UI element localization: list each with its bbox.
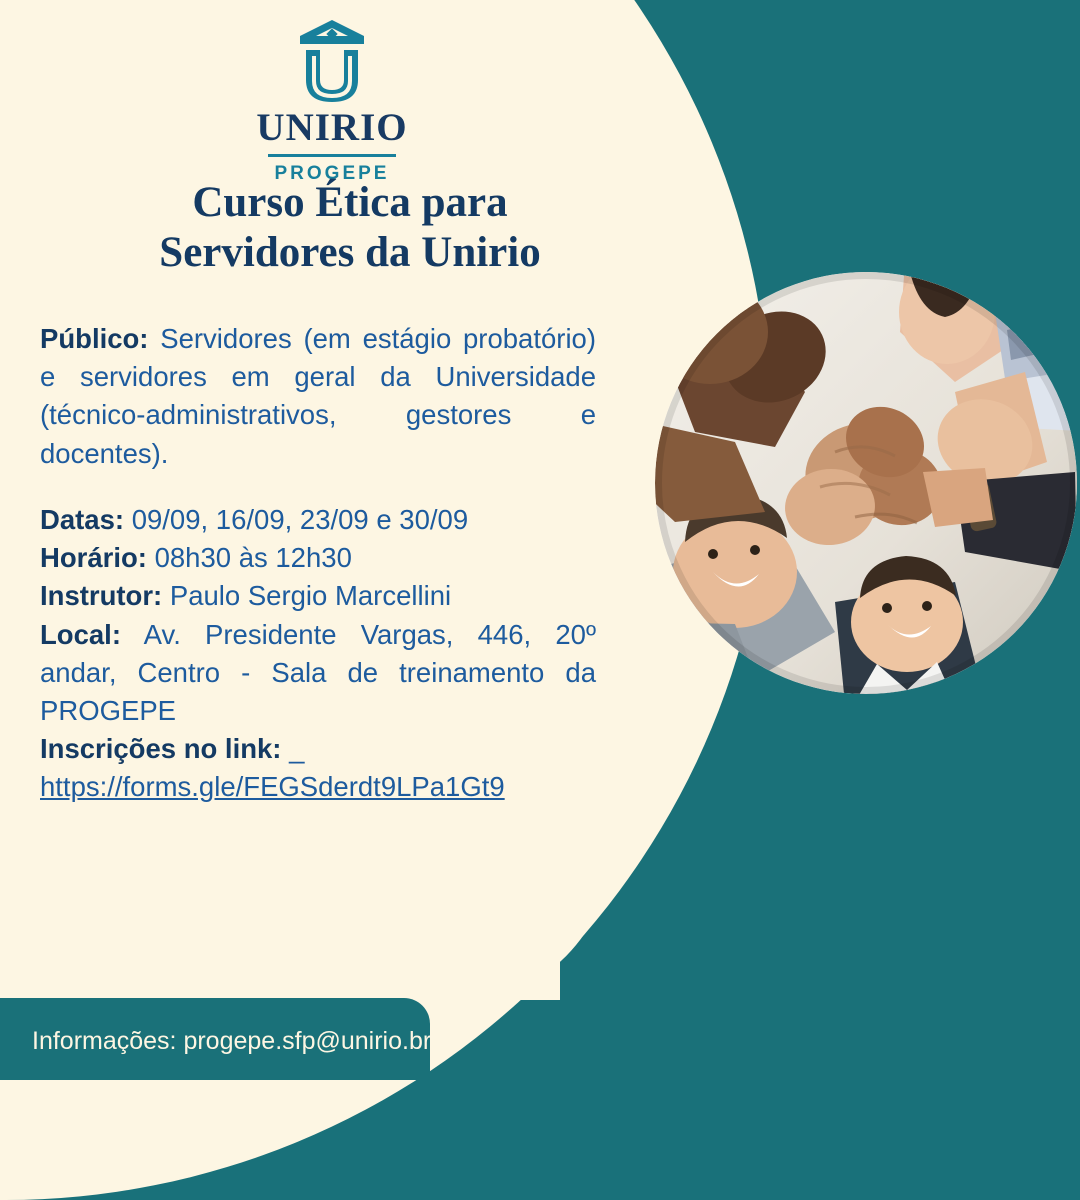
local-label: Local: — [40, 619, 121, 650]
datas-text: 09/09, 16/09, 23/09 e 30/09 — [124, 504, 468, 535]
logo-divider — [268, 154, 396, 157]
publico-paragraph: Público: Servidores (em estágio probatór… — [40, 320, 596, 473]
inscricoes-link-line: https://forms.gle/FEGSderdt9LPa1Gt9 — [40, 768, 596, 806]
local-text: Av. Presidente Vargas, 446, 20º andar, C… — [40, 619, 596, 726]
instrutor-text: Paulo Sergio Marcellini — [162, 580, 451, 611]
unirio-shield-icon — [290, 18, 374, 104]
registration-link[interactable]: https://forms.gle/FEGSderdt9LPa1Gt9 — [40, 771, 505, 802]
horario-text: 08h30 às 12h30 — [147, 542, 352, 573]
local-line: Local: Av. Presidente Vargas, 446, 20º a… — [40, 616, 596, 731]
instrutor-line: Instrutor: Paulo Sergio Marcellini — [40, 577, 596, 615]
datas-line: Datas: 09/09, 16/09, 23/09 e 30/09 — [40, 501, 596, 539]
hands-photo — [655, 272, 1077, 694]
inscricoes-line: Inscrições no link: _ — [40, 730, 596, 768]
unirio-progepe-logo: UNIRIO PROGEPE — [232, 18, 432, 185]
publico-label: Público: — [40, 323, 148, 354]
footer-contact: Informações: progepe.sfp@unirio.br — [32, 1027, 431, 1056]
inscricoes-label: Inscrições no link: — [40, 733, 281, 764]
inscricoes-suffix: _ — [281, 733, 304, 764]
page-title: Curso Ética para Servidores da Unirio — [40, 178, 660, 279]
title-line-2: Servidores da Unirio — [40, 228, 660, 278]
event-details: Público: Servidores (em estágio probatór… — [40, 320, 596, 807]
instrutor-label: Instrutor: — [40, 580, 162, 611]
title-line-1: Curso Ética para — [40, 178, 660, 228]
logo-name: UNIRIO — [232, 108, 432, 147]
datas-label: Datas: — [40, 504, 124, 535]
hands-photo-illustration — [655, 272, 1077, 694]
horario-line: Horário: 08h30 às 12h30 — [40, 539, 596, 577]
horario-label: Horário: — [40, 542, 147, 573]
